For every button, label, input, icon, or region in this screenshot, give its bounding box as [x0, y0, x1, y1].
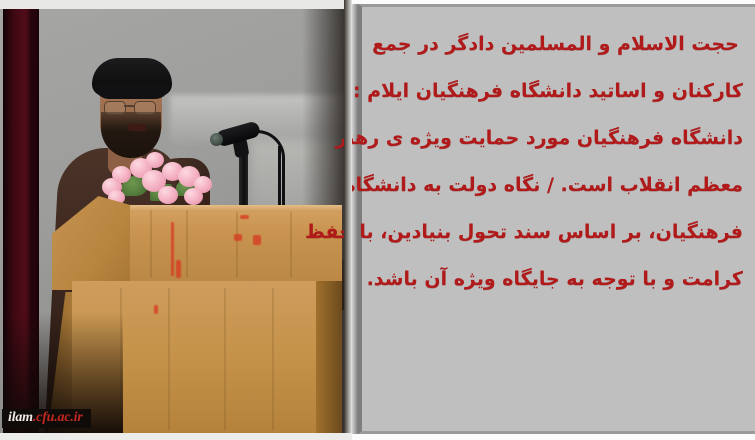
- wood-grain: [290, 212, 292, 278]
- headline-line-6: کرامت و با توجه به جایگاه ویژه آن باشد.: [368, 256, 743, 303]
- eyeglasses-right-lens: [134, 101, 156, 115]
- headline-line-3: دانشگاه فرهنگیان مورد حمایت ویژه ی رهبر: [368, 115, 743, 162]
- site-watermark: ilam.cfu.ac.ir: [2, 409, 91, 428]
- speaker-photo: ilam.cfu.ac.ir: [0, 0, 352, 440]
- wood-grain: [224, 288, 226, 430]
- headline-line-4: معظم انقلاب است. / نگاه دولت به دانشگاه: [368, 162, 743, 209]
- flower-petal: [146, 152, 164, 168]
- headline-line-5: فرهنگیان، بر اساس سند تحول بنیادین، با ح…: [368, 209, 743, 256]
- turban-band: [94, 84, 170, 99]
- microphone-stand: [239, 150, 248, 212]
- wood-grain: [236, 212, 238, 278]
- flower-petal: [158, 186, 178, 204]
- wood-grain: [150, 210, 152, 278]
- headline-panel: حجت الاسلام و المسلمین دادگر در جمع کارک…: [352, 0, 755, 440]
- red-paint-mark: [240, 215, 249, 219]
- watermark-site-domain: .cfu.ac.ir: [33, 410, 83, 425]
- photo-bottom-border: [0, 433, 352, 440]
- panel-frame: حجت الاسلام و المسلمین دادگر در جمع کارک…: [358, 4, 755, 434]
- wood-grain: [272, 288, 274, 430]
- headline-line-2: کارکنان و اساتید دانشگاه فرهنگیان ایلام …: [368, 68, 743, 115]
- watermark-site-name: ilam: [8, 410, 33, 425]
- photo-content: [0, 0, 352, 440]
- eyeglasses-left-lens: [104, 101, 126, 115]
- headline-line-1: حجت الاسلام و المسلمین دادگر در جمع: [368, 21, 743, 68]
- photo-top-border: [0, 0, 352, 9]
- podium-right-face: [316, 281, 342, 433]
- news-banner: ilam.cfu.ac.ir حجت الاسلام و المسلمین دا…: [0, 0, 755, 440]
- flower-petal: [184, 188, 203, 205]
- red-paint-mark: [234, 234, 242, 241]
- eyeglasses-bridge: [124, 105, 134, 107]
- red-paint-mark: [154, 305, 158, 314]
- microphone-capsule-icon: [210, 133, 223, 146]
- red-paint-mark: [176, 260, 181, 278]
- red-paint-mark: [253, 235, 261, 245]
- flower-petal: [112, 166, 131, 183]
- wood-grain: [168, 288, 170, 430]
- mouth: [128, 124, 146, 131]
- headline-text: حجت الاسلام و المسلمین دادگر در جمع کارک…: [368, 21, 743, 303]
- microphone-cable-drop: [278, 146, 281, 212]
- red-paint-mark: [171, 222, 174, 276]
- photo-right-border: [344, 0, 352, 440]
- wood-grain: [186, 210, 188, 278]
